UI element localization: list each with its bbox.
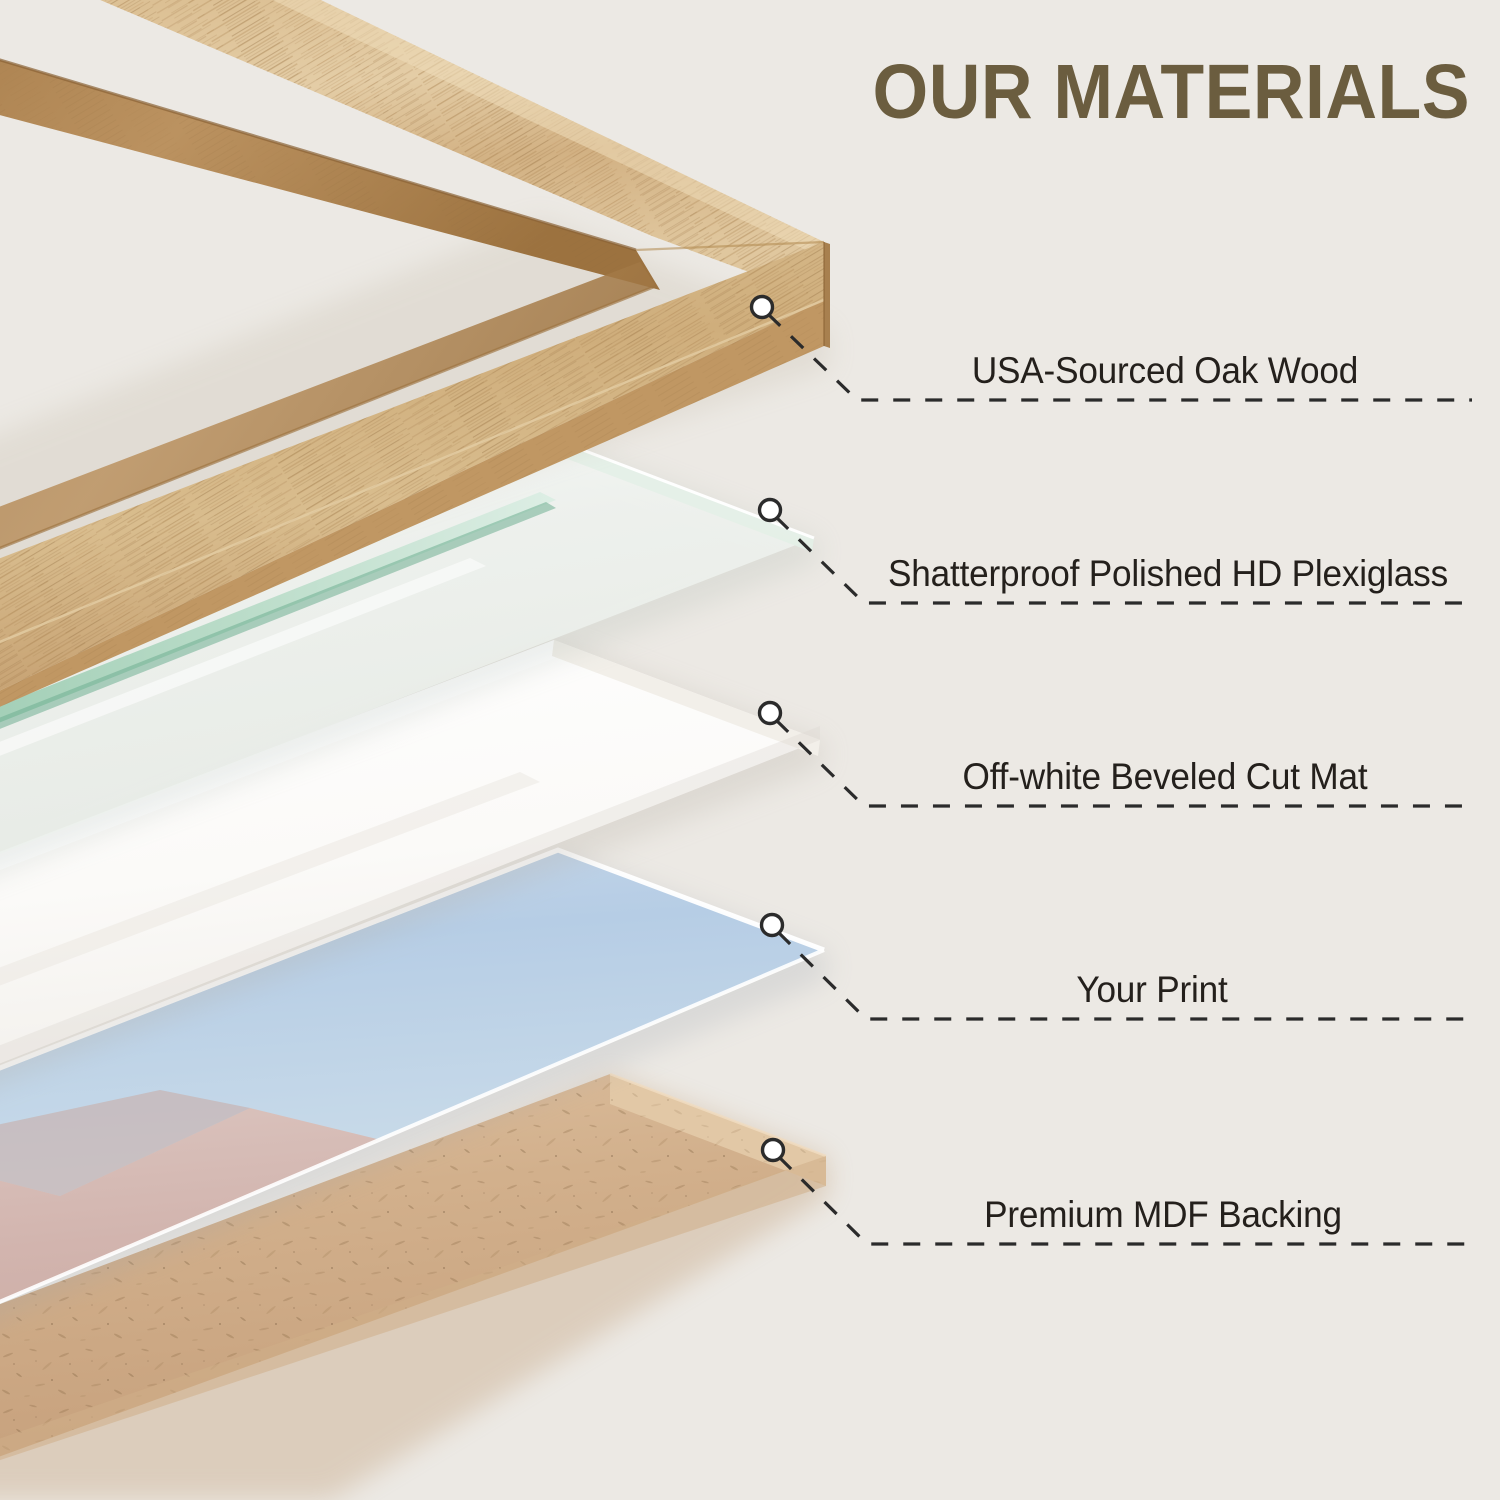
page-title: OUR MATERIALS bbox=[819, 48, 1470, 137]
callout-label-plexiglass: Shatterproof Polished HD Plexiglass bbox=[456, 553, 1500, 595]
callout-label-oak-wood: USA-Sourced Oak Wood bbox=[453, 350, 1500, 392]
marker-dot-mdf-backing bbox=[763, 1140, 784, 1161]
marker-dot-mat bbox=[760, 703, 781, 724]
marker-dot-plexiglass bbox=[760, 500, 781, 521]
marker-dot-print bbox=[762, 915, 783, 936]
materials-infographic: OUR MATERIALS USA-Sourced Oak Wood Shatt… bbox=[0, 0, 1500, 1500]
callout-leaders bbox=[0, 0, 1500, 1500]
callout-label-print: Your Print bbox=[440, 969, 1500, 1011]
callout-label-mat: Off-white Beveled Cut Mat bbox=[453, 756, 1500, 798]
callout-label-mdf-backing: Premium MDF Backing bbox=[451, 1194, 1500, 1236]
marker-dot-oak-wood bbox=[752, 297, 773, 318]
